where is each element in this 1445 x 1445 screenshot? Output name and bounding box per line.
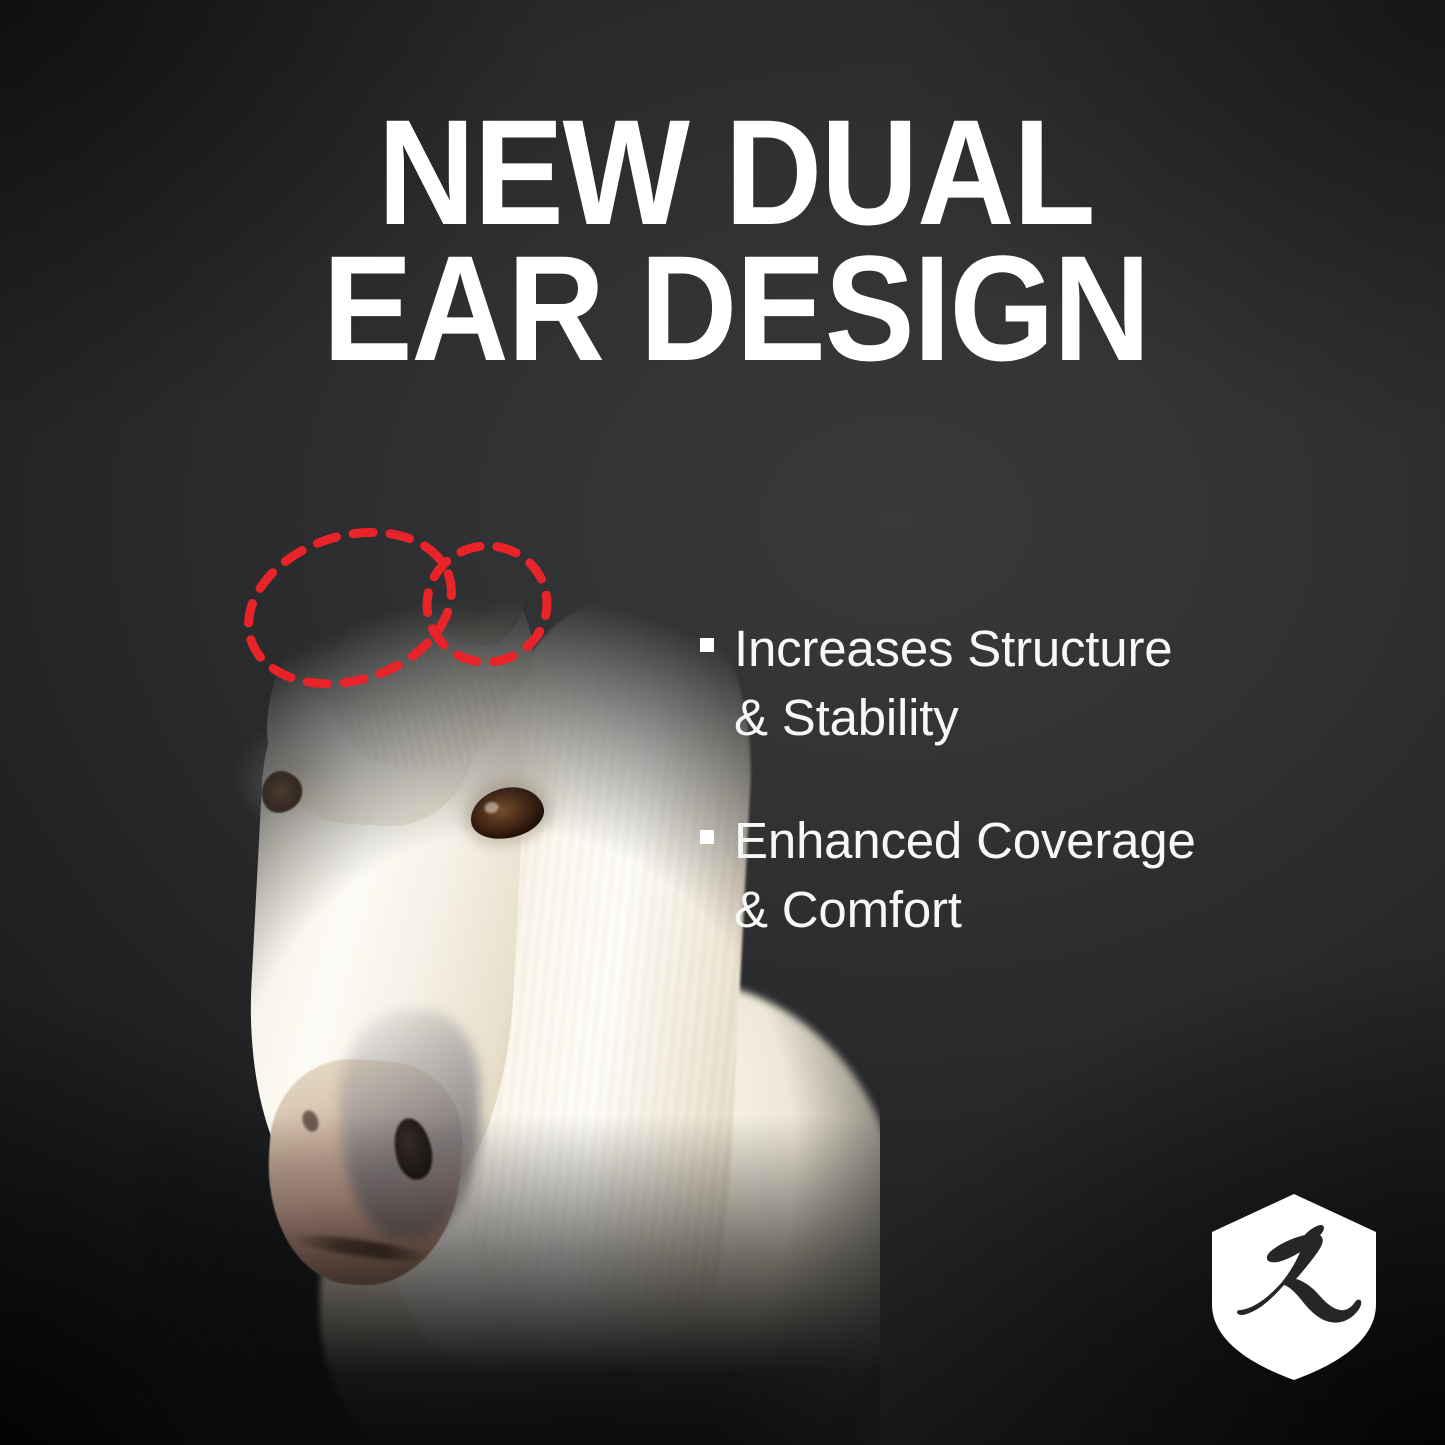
feature-list: Increases Structure & Stability Enhanced… — [700, 614, 1360, 998]
promo-graphic: NEW DUAL EAR DESIGN Increases Structure … — [0, 0, 1445, 1445]
feature-1-line-1: Increases Structure — [734, 614, 1172, 683]
headline: NEW DUAL EAR DESIGN — [256, 104, 1216, 376]
headline-line-2: EAR DESIGN — [304, 240, 1168, 376]
headline-line-1: NEW DUAL — [304, 104, 1168, 240]
square-bullet-icon — [700, 830, 714, 844]
feature-text-2: Enhanced Coverage & Comfort — [734, 806, 1196, 944]
shield-logo — [1208, 1192, 1380, 1382]
list-item: Enhanced Coverage & Comfort — [700, 806, 1360, 944]
horse-ear-right — [428, 433, 545, 651]
feature-text-1: Increases Structure & Stability — [734, 614, 1172, 752]
feature-1-line-2: & Stability — [734, 683, 1172, 752]
horse-ear-left — [236, 444, 359, 664]
feature-2-line-2: & Comfort — [734, 875, 1196, 944]
square-bullet-icon — [700, 638, 714, 652]
list-item: Increases Structure & Stability — [700, 614, 1360, 752]
feature-2-line-1: Enhanced Coverage — [734, 806, 1196, 875]
